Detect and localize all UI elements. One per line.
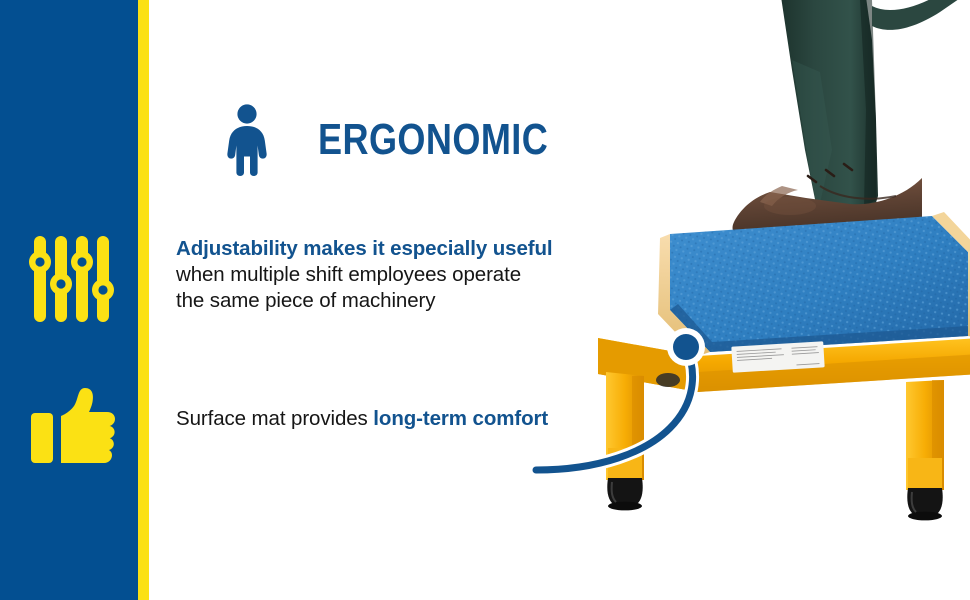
person-icon: [224, 104, 270, 176]
thumbs-up-icon: [30, 386, 116, 466]
stool-leg-right: [906, 380, 944, 492]
page-title: ERGONOMIC: [318, 118, 548, 162]
paragraph-2-plain: Surface mat provides: [176, 407, 373, 430]
callout-pointer: [490, 300, 750, 520]
callout-dot: [673, 334, 699, 360]
sidebar-yellow-stripe: [138, 0, 149, 600]
rubber-foot-right: [907, 488, 942, 520]
ergonomic-feature-banner: ERGONOMIC Adjustability makes it especia…: [0, 0, 970, 600]
sliders-icon: [28, 234, 114, 324]
work-pants: [780, 0, 970, 224]
callout-curve: [536, 347, 693, 470]
